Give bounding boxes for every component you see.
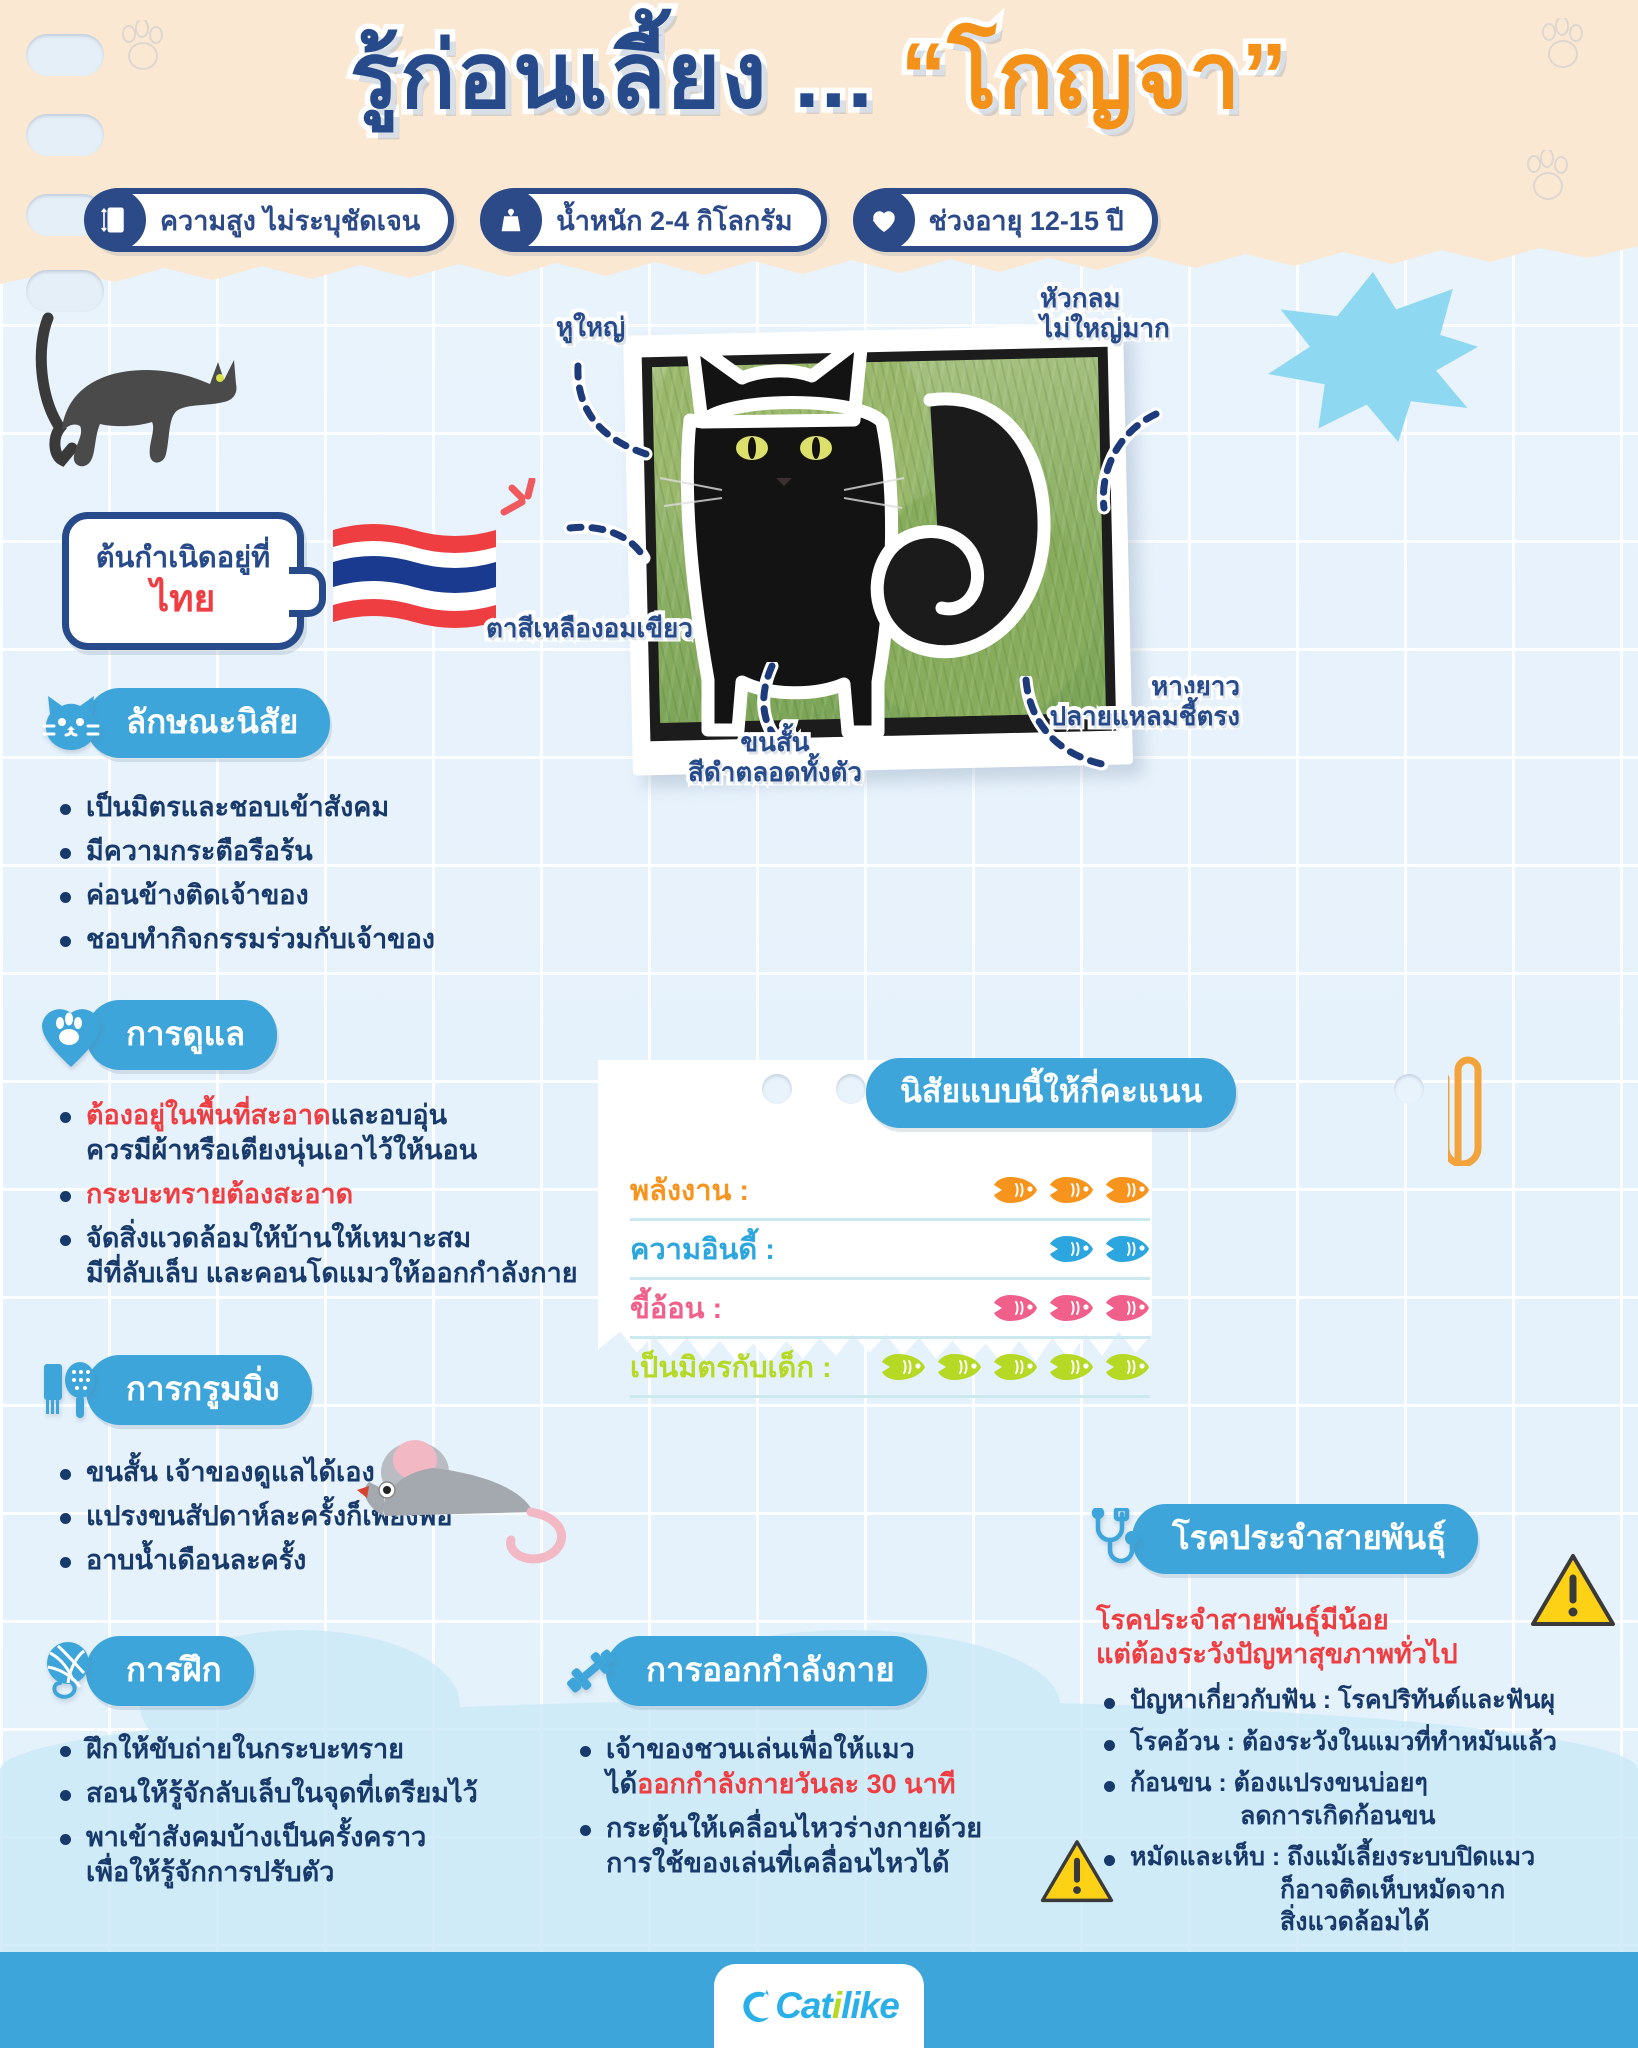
list-text: ฝึกให้ขับถ่ายในกระบะทราย — [86, 1734, 404, 1764]
list-text: อาบน้ำเดือนละครั้ง — [86, 1545, 306, 1575]
score-rows: พลังงาน : ความอินดี้ : ขี้อ้อน : เป็นมิต… — [630, 1162, 1150, 1398]
paw-heart-icon — [40, 1004, 102, 1066]
list-text-cont: เพื่อให้รู้จักการปรับตัว — [86, 1855, 572, 1890]
score-row-fish-group — [866, 1352, 1150, 1382]
weight-scale-icon: KG — [480, 189, 542, 251]
origin-label: ต้นกำเนิดอยู่ที่ — [96, 541, 271, 576]
mouse-illustration — [355, 1420, 585, 1570]
origin-bubble: ต้นกำเนิดอยู่ที่ ไทย — [62, 512, 304, 650]
list-item: สอนให้รู้จักลับเล็บในจุดที่เตรียมไว้ — [52, 1776, 572, 1811]
list-text: โรคอ้วน : ต้องระวังในแมวที่ทำหมันแล้ว — [1130, 1728, 1557, 1756]
fish-rating-icon — [1102, 1293, 1150, 1323]
list-item: ต้องอยู่ในพื้นที่สะอาดและอบอุ่น ควรมีผ้า… — [52, 1098, 592, 1168]
list-item: เป็นมิตรและชอบเข้าสังคม — [52, 790, 572, 825]
fish-rating-icon — [1046, 1234, 1094, 1264]
origin-country: ไทย — [151, 576, 216, 621]
list-exercise: เจ้าของชวนเล่นเพื่อให้แมว ได้ออกกำลังกาย… — [572, 1732, 1092, 1890]
callout-coat: ขนสั้น สีดำตลอดทั้งตัว — [650, 728, 900, 788]
fish-rating-icon — [1102, 1175, 1150, 1205]
list-text-prefix: ได้ — [606, 1769, 637, 1799]
list-item: โรคอ้วน : ต้องระวังในแมวที่ทำหมันแล้ว — [1096, 1726, 1636, 1759]
fish-rating-icon — [990, 1352, 1038, 1382]
height-ruler-icon — [84, 189, 146, 251]
list-text: มีความกระตือรือร้น — [86, 836, 313, 866]
page-title: รู้ก่อนเลี้ยง ... “โกญจา” — [0, 26, 1638, 127]
stat-pill-row: ความสูง ไม่ระบุชัดเจน KG น้ำหนัก 2-4 กิโ… — [86, 188, 1158, 252]
callout-coat-line1: ขนสั้น — [740, 727, 809, 757]
score-row: พลังงาน : — [630, 1162, 1150, 1221]
thailand-flag-icon — [333, 522, 496, 630]
list-text: ขนสั้น เจ้าของดูแลได้เอง — [86, 1457, 375, 1487]
list-text-cont: การใช้ของเล่นที่เคลื่อนไหวได้ — [606, 1846, 1092, 1881]
list-text: เจ้าของชวนเล่นเพื่อให้แมว — [606, 1734, 915, 1764]
list-text-cont: มีที่ลับเล็บ และคอนโดแมวให้ออกกำลังกาย — [86, 1256, 592, 1291]
list-diseases: ปัญหาเกี่ยวกับฟัน : โรคปริทันต์และฟันผุ … — [1096, 1684, 1636, 1948]
title-main: รู้ก่อนเลี้ยง ... — [350, 25, 874, 127]
stat-pill-lifespan: ช่วงอายุ 12-15 ปี — [855, 188, 1158, 252]
callout-leader-line — [560, 358, 780, 638]
list-text: สอนให้รู้จักลับเล็บในจุดที่เตรียมไว้ — [86, 1778, 478, 1808]
stat-pill-weight: KG น้ำหนัก 2-4 กิโลกรัม — [482, 188, 826, 252]
score-row-label: เป็นมิตรกับเด็ก : — [630, 1344, 832, 1390]
list-item: ค่อนข้างติดเจ้าของ — [52, 878, 572, 913]
score-card-title: นิสัยแบบนี้ให้กี่คะแนน — [866, 1058, 1236, 1128]
list-training: ฝึกให้ขับถ่ายในกระบะทราย สอนให้รู้จักลับ… — [52, 1732, 572, 1899]
section-header-care: การดูแล — [40, 1000, 277, 1070]
list-item: มีความกระตือรือร้น — [52, 834, 572, 869]
section-title-training: การฝึก — [86, 1636, 254, 1706]
callout-head: หัวกลม ไม่ใหญ่มาก — [1040, 284, 1170, 344]
score-row-label: พลังงาน : — [630, 1167, 749, 1213]
score-row: ขี้อ้อน : — [630, 1280, 1150, 1339]
score-row: ความอินดี้ : — [630, 1221, 1150, 1280]
list-temperament: เป็นมิตรและชอบเข้าสังคม มีความกระตือรือร… — [52, 790, 572, 966]
callout-tail-line2: ปลายแหลมชี้ตรง — [1050, 701, 1240, 731]
stat-lifespan-text: ช่วงอายุ 12-15 ปี — [929, 199, 1124, 242]
stat-height-text: ความสูง ไม่ระบุชัดเจน — [160, 199, 420, 242]
section-header-exercise: การออกกำลังกาย — [560, 1636, 927, 1706]
score-row-fish-group — [978, 1175, 1150, 1205]
fish-rating-icon — [934, 1352, 982, 1382]
list-text: เป็นมิตรและชอบเข้าสังคม — [86, 792, 389, 822]
brand-part-b: like — [841, 1985, 899, 2026]
yarn-ball-icon — [40, 1640, 102, 1702]
section-title-care: การดูแล — [86, 1000, 277, 1070]
brand-logo-text: Catilike — [775, 1985, 899, 2027]
fish-rating-icon — [1102, 1352, 1150, 1382]
list-text-cont: สิ่งแวดล้อมได้ — [1130, 1906, 1636, 1939]
callout-ears: หูใหญ่ — [556, 313, 625, 343]
brush-comb-icon — [40, 1359, 102, 1421]
title-breed-name: “โกญจา” — [900, 25, 1288, 127]
list-item: กระตุ้นให้เคลื่อนไหวร่างกายด้วย การใช้ขอ… — [572, 1811, 1092, 1881]
callout-head-line2: ไม่ใหญ่มาก — [1040, 313, 1170, 343]
score-row: เป็นมิตรกับเด็ก : — [630, 1339, 1150, 1398]
list-text-cont: ลดการเกิดก้อนขน — [1130, 1800, 1636, 1833]
brand-part-i: i — [832, 1985, 841, 2026]
section-header-grooming: การกรูมมิ่ง — [40, 1355, 312, 1425]
list-item: ก้อนขน : ต้องแปรงขนบ่อยๆ ลดการเกิดก้อนขน — [1096, 1767, 1636, 1832]
score-row-fish-group — [1034, 1234, 1150, 1264]
section-header-temperament: ลักษณะนิสัย — [40, 688, 330, 758]
list-text: ชอบทำกิจกรรมร่วมกับเจ้าของ — [86, 924, 435, 954]
section-title-grooming: การกรูมมิ่ง — [86, 1355, 312, 1425]
paper-clip-icon — [1448, 1048, 1484, 1166]
card-punch-hole — [762, 1074, 792, 1104]
list-item: เจ้าของชวนเล่นเพื่อให้แมว ได้ออกกำลังกาย… — [572, 1732, 1092, 1802]
card-punch-hole — [1394, 1074, 1424, 1104]
list-text: ปัญหาเกี่ยวกับฟัน : โรคปริทันต์และฟันผุ — [1130, 1686, 1555, 1714]
list-text-highlight: กระบะทรายต้องสะอาด — [86, 1179, 353, 1209]
callout-leader-line — [1048, 404, 1188, 534]
stat-pill-height: ความสูง ไม่ระบุชัดเจน — [86, 188, 454, 252]
fish-rating-icon — [1046, 1293, 1094, 1323]
card-punch-hole — [836, 1074, 866, 1104]
section-header-training: การฝึก — [40, 1636, 254, 1706]
list-item: พาเข้าสังคมบ้างเป็นครั้งคราว เพื่อให้รู้… — [52, 1820, 572, 1890]
list-text: ก้อนขน : ต้องแปรงขนบ่อยๆ — [1130, 1769, 1428, 1797]
fish-rating-icon — [1046, 1175, 1094, 1205]
warning-triangle-icon — [1040, 1838, 1114, 1906]
star-burst-decoration — [1268, 272, 1478, 442]
brand-part-a: Cat — [775, 1985, 832, 2026]
callout-tail-line1: หางยาว — [1151, 671, 1240, 701]
list-text: จัดสิ่งแวดล้อมให้บ้านให้เหมาะสม — [86, 1223, 471, 1253]
fish-rating-icon — [990, 1175, 1038, 1205]
infographic-page: รู้ก่อนเลี้ยง ... “โกญจา” ความสูง ไม่ระบ… — [0, 0, 1638, 2048]
callout-eyes: ตาสีเหลืองอมเขียว — [486, 614, 693, 644]
svg-text:KG: KG — [506, 221, 517, 230]
list-item: ปัญหาเกี่ยวกับฟัน : โรคปริทันต์และฟันผุ — [1096, 1684, 1636, 1717]
list-text: กระตุ้นให้เคลื่อนไหวร่างกายด้วย — [606, 1813, 982, 1843]
list-text-cont: ได้ออกกำลังกายวันละ 30 นาที — [606, 1767, 1092, 1802]
diseases-lead-line2: แต่ต้องระวังปัญหาสุขภาพทั่วไป — [1096, 1638, 1626, 1672]
stethoscope-icon — [1086, 1508, 1148, 1570]
dumbbell-icon — [560, 1640, 622, 1702]
brand-logo: Catilike — [714, 1964, 924, 2048]
cat-face-icon — [40, 692, 102, 754]
callout-head-line1: หัวกลม — [1040, 283, 1121, 313]
paw-print-icon — [1525, 150, 1571, 202]
callout-coat-line2: สีดำตลอดทั้งตัว — [688, 757, 862, 787]
list-item: ชอบทำกิจกรรมร่วมกับเจ้าของ — [52, 922, 572, 957]
list-text: พาเข้าสังคมบ้างเป็นครั้งคราว — [86, 1822, 426, 1852]
section-header-diseases: โรคประจำสายพันธุ์ — [1086, 1504, 1478, 1574]
list-text: ค่อนข้างติดเจ้าของ — [86, 880, 309, 910]
list-text: หมัดและเห็บ : ถึงแม้เลี้ยงระบบปิดแมว — [1130, 1843, 1535, 1871]
score-row-label: ความอินดี้ : — [630, 1226, 775, 1272]
score-row-fish-group — [978, 1293, 1150, 1323]
cat-logo-icon — [739, 1986, 773, 2026]
list-item: จัดสิ่งแวดล้อมให้บ้านให้เหมาะสม มีที่ลับ… — [52, 1221, 592, 1291]
list-text-highlight: ต้องอยู่ในพื้นที่สะอาด — [86, 1100, 331, 1130]
list-item: ฝึกให้ขับถ่ายในกระบะทราย — [52, 1732, 572, 1767]
fish-rating-icon — [878, 1352, 926, 1382]
list-text-cont: ก็อาจติดเห็บหมัดจาก — [1130, 1874, 1636, 1907]
warning-triangle-icon — [1530, 1552, 1616, 1630]
score-row-label: ขี้อ้อน : — [630, 1285, 722, 1331]
fish-rating-icon — [1102, 1234, 1150, 1264]
list-care: ต้องอยู่ในพื้นที่สะอาดและอบอุ่น ควรมีผ้า… — [52, 1098, 592, 1300]
callout-tail: หางยาว ปลายแหลมชี้ตรง — [1000, 672, 1240, 732]
heart-pulse-icon — [853, 189, 915, 251]
list-text-cont: ควรมีผ้าหรือเตียงนุ่นเอาไว้ให้นอน — [86, 1133, 592, 1168]
fish-rating-icon — [990, 1293, 1038, 1323]
list-item: หมัดและเห็บ : ถึงแม้เลี้ยงระบบปิดแมว ก็อ… — [1096, 1841, 1636, 1939]
list-text: และอบอุ่น — [331, 1100, 447, 1130]
fish-rating-icon — [1046, 1352, 1094, 1382]
black-cat-illustration — [28, 288, 248, 488]
list-text-highlight: ออกกำลังกายวันละ 30 นาที — [637, 1769, 955, 1799]
list-item: กระบะทรายต้องสะอาด — [52, 1177, 592, 1212]
section-title-exercise: การออกกำลังกาย — [606, 1636, 927, 1706]
footer-bar: Catilike — [0, 1952, 1638, 2048]
stat-weight-text: น้ำหนัก 2-4 กิโลกรัม — [556, 199, 792, 242]
sparkle-lines-icon — [498, 478, 554, 534]
section-title-diseases: โรคประจำสายพันธุ์ — [1132, 1504, 1478, 1574]
section-title-temperament: ลักษณะนิสัย — [86, 688, 330, 758]
